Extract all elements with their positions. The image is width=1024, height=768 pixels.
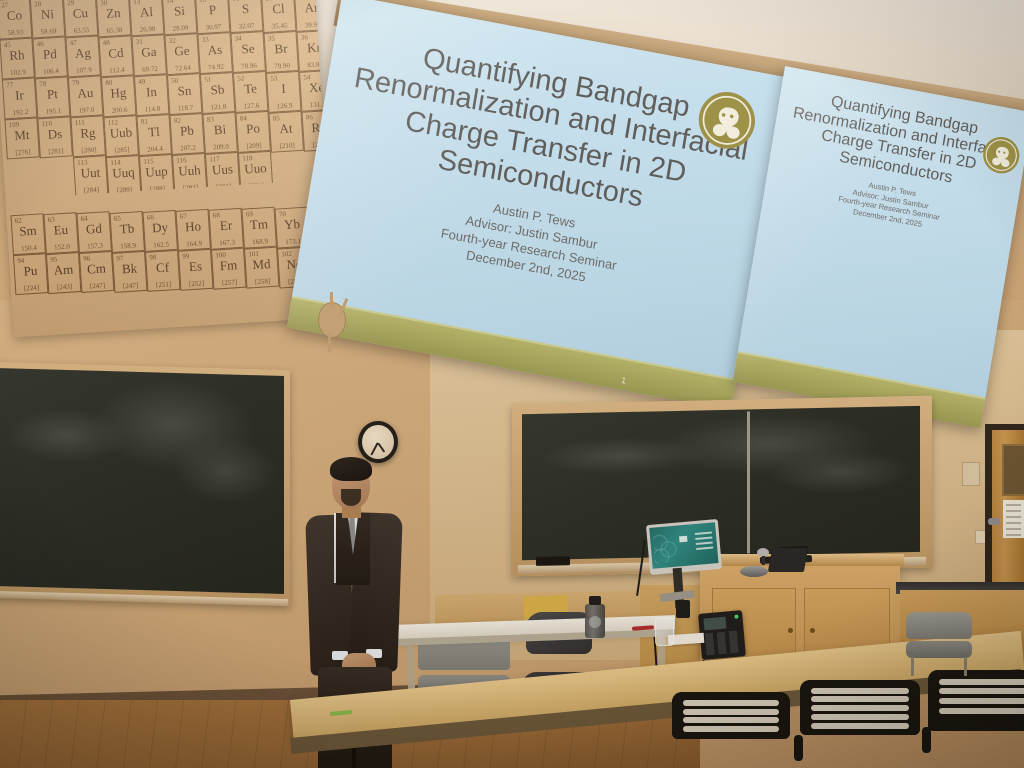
phone-keypad[interactable] xyxy=(705,631,741,656)
element-symbol: Cu xyxy=(64,5,96,23)
clock-face xyxy=(362,425,394,459)
periodic-element-cell: 63Eu152.0 xyxy=(43,212,78,254)
podium-monitor[interactable] xyxy=(646,519,722,575)
element-symbol: Cl xyxy=(263,0,295,18)
element-symbol: Eu xyxy=(45,221,77,239)
element-symbol: Mt xyxy=(6,126,38,144)
microphone[interactable] xyxy=(757,548,769,564)
chalkboard-right-surface xyxy=(522,406,920,560)
csu-ram-logo-icon-2 xyxy=(980,133,1023,177)
periodic-element-cell: 51Sb121.8 xyxy=(200,72,235,114)
element-mass: 127.6 xyxy=(236,101,267,111)
element-symbol: Pu xyxy=(15,262,47,280)
periodic-element-cell: 67Ho164.9 xyxy=(175,209,210,251)
chair-slat xyxy=(939,679,1024,685)
element-symbol: Tb xyxy=(111,220,143,238)
element-symbol: Ho xyxy=(177,218,209,236)
element-symbol: S xyxy=(230,1,262,19)
element-mass: 200.6 xyxy=(104,105,135,115)
element-symbol: Uuo xyxy=(240,160,272,178)
element-symbol: Dy xyxy=(144,219,176,237)
periodic-element-cell: 84Po[209] xyxy=(235,111,270,153)
eraser-left[interactable] xyxy=(536,556,570,566)
periodic-element-cell: 27Co58.93 xyxy=(0,0,32,40)
phone-led-icon xyxy=(734,615,738,619)
element-mass: 207.2 xyxy=(172,143,203,153)
beard xyxy=(341,489,361,506)
element-mass: [258] xyxy=(247,277,278,287)
element-mass: 58.69 xyxy=(33,27,64,37)
element-mass: 197.0 xyxy=(71,106,102,116)
element-mass: [243] xyxy=(49,282,80,292)
element-symbol: Cf xyxy=(147,259,179,277)
periodic-element-cell: 99Es[252] xyxy=(178,249,213,291)
periodic-element-cell: 28Ni58.69 xyxy=(30,0,65,39)
element-symbol: Rg xyxy=(72,125,104,143)
periodic-element-cell: 85At[210] xyxy=(268,110,303,152)
chalk-smudges xyxy=(0,368,284,594)
periodic-element-cell: 50Sn118.7 xyxy=(167,73,202,115)
periodic-element-cell: 68Er167.3 xyxy=(208,208,243,250)
element-mass: 195.1 xyxy=(38,107,69,117)
chair-back xyxy=(928,670,1024,731)
clock-hour-hand xyxy=(377,443,385,453)
chalkboard-left xyxy=(0,362,290,606)
chair-slat xyxy=(811,688,909,694)
periodic-element-cell: 33As74.92 xyxy=(197,32,232,74)
chalkboard-left-surface xyxy=(0,368,284,594)
element-symbol: Ag xyxy=(67,45,99,63)
periodic-element-cell: 46Pd106.4 xyxy=(32,37,67,79)
element-mass: 158.9 xyxy=(112,241,143,251)
chair-slat xyxy=(683,726,780,732)
periodic-element-cell: 48Cd112.4 xyxy=(98,35,133,77)
phone-display xyxy=(703,617,726,631)
microphone-stem xyxy=(762,556,765,565)
element-mass: 114.8 xyxy=(137,104,168,114)
periodic-table-poster: 8B8B10111B122B3A4A5A27Co58.9328Ni58.6929… xyxy=(0,0,335,337)
element-symbol: Uuq xyxy=(108,164,140,182)
podium-knob-left[interactable] xyxy=(788,628,793,633)
chair-row-1[interactable] xyxy=(672,692,790,768)
door-window xyxy=(1002,444,1024,496)
chair-slat xyxy=(811,723,909,729)
periodic-element-cell: 14Si28.09 xyxy=(162,0,197,35)
periodic-element-cell: 35Br79.90 xyxy=(263,31,298,73)
periodic-element-cell: 32Ge72.64 xyxy=(164,33,199,75)
chair-row-3[interactable] xyxy=(928,670,1024,768)
periodic-element-cell: 81Tl204.4 xyxy=(136,114,171,156)
periodic-element-cell: 100Fm[257] xyxy=(211,248,246,290)
element-symbol: Uub xyxy=(105,124,137,142)
chair-back xyxy=(906,612,972,639)
periodic-element-cell: 96Cm[247] xyxy=(79,251,114,293)
plastic-cup[interactable] xyxy=(655,618,674,646)
element-mass: 107.9 xyxy=(68,66,99,76)
periodic-element-cell: 65Tb158.9 xyxy=(109,211,144,253)
periodic-element-cell: 79Au197.0 xyxy=(68,76,103,118)
chair-slat xyxy=(811,705,909,711)
element-mass: 26.98 xyxy=(132,24,163,34)
chair-armrest-left xyxy=(794,735,803,761)
bottle-logo-icon xyxy=(589,616,601,628)
monitor-text-lines xyxy=(695,532,714,553)
periodic-element-cell: 110Ds[281] xyxy=(37,117,72,159)
element-symbol: Fm xyxy=(213,257,245,275)
chair-row-2[interactable] xyxy=(800,680,920,768)
periodic-element-cell: 78Pt195.1 xyxy=(35,77,70,119)
periodic-element-cell: 47Ag107.9 xyxy=(65,36,100,78)
element-symbol: Es xyxy=(180,258,212,276)
desk-phone[interactable] xyxy=(698,610,746,660)
element-symbol: At xyxy=(270,119,302,137)
element-mass: 102.9 xyxy=(2,68,33,78)
element-mass: 63.55 xyxy=(66,26,97,36)
element-symbol: Au xyxy=(69,85,101,103)
monitor-screen[interactable] xyxy=(649,522,718,569)
element-mass: 74.92 xyxy=(200,62,231,72)
element-symbol: Tl xyxy=(138,123,170,141)
element-symbol: P xyxy=(196,1,228,19)
element-symbol: Al xyxy=(130,3,162,21)
element-mass: [210] xyxy=(271,140,302,150)
element-mass: 79.90 xyxy=(266,61,297,71)
element-symbol: Ir xyxy=(3,87,35,105)
chair-slat xyxy=(939,698,1024,704)
element-symbol: Cd xyxy=(100,44,132,62)
element-mass: 192.2 xyxy=(5,107,36,117)
bracket-arm-bottom xyxy=(328,334,331,352)
periodic-element-cell: 34Se78.96 xyxy=(230,31,265,73)
periodic-element-cell: 15P30.97 xyxy=(195,0,230,34)
periodic-element-cell: 83Bi209.0 xyxy=(202,112,237,154)
element-symbol: Co xyxy=(0,7,30,25)
periodic-element-cell: 16S32.07 xyxy=(228,0,263,34)
periodic-element-cell: 113Uut[284] xyxy=(73,156,108,198)
chair-slat xyxy=(683,709,780,715)
chair-back-right[interactable] xyxy=(906,612,972,676)
element-mass: 78.96 xyxy=(233,61,264,71)
element-mass: [209] xyxy=(238,141,269,151)
chair-back xyxy=(800,680,920,735)
element-symbol: Pb xyxy=(171,122,203,140)
element-mass: 106.4 xyxy=(35,67,66,77)
element-symbol: Gd xyxy=(78,221,110,239)
periodic-element-cell: 98Cf[251] xyxy=(145,250,180,292)
element-mass: 209.0 xyxy=(205,142,236,152)
element-symbol: Md xyxy=(246,256,278,274)
bracket-arm-top xyxy=(330,292,333,308)
element-symbol: Tm xyxy=(243,216,275,234)
chair-slat xyxy=(811,714,909,720)
chair-slat xyxy=(683,717,780,723)
element-symbol: Br xyxy=(265,40,297,58)
periodic-element-cell: 94Pu[224] xyxy=(13,253,48,295)
element-symbol: Si xyxy=(163,2,195,20)
element-mass: 164.9 xyxy=(178,239,209,249)
chalkboard-divider xyxy=(747,411,750,553)
chair-slat xyxy=(939,688,1024,694)
door-sign xyxy=(1003,500,1024,538)
element-symbol: Uut xyxy=(75,165,107,183)
chalk-smudges-right xyxy=(522,406,920,560)
chair-back xyxy=(672,692,790,739)
element-mass: 121.8 xyxy=(203,102,234,112)
projection-screen-secondary[interactable]: Quantifying Bandgap Renormalization and … xyxy=(733,66,1024,428)
podium-knob-right[interactable] xyxy=(810,628,815,633)
wall-outlet-box xyxy=(962,462,980,486)
periodic-element-cell: 101Md[258] xyxy=(244,247,279,289)
element-symbol: Se xyxy=(232,40,264,58)
chalkboard-right xyxy=(512,396,932,577)
element-symbol: As xyxy=(199,41,231,59)
element-symbol: Pd xyxy=(34,46,66,64)
element-mass: [285] xyxy=(106,145,137,155)
element-symbol: Sn xyxy=(169,82,201,100)
csu-ram-logo-icon xyxy=(693,86,760,155)
chair-slat xyxy=(939,708,1024,714)
element-mass: 167.3 xyxy=(211,238,242,248)
element-mass: 168.9 xyxy=(244,237,275,247)
periodic-element-cell: 45Rh102.9 xyxy=(0,38,35,80)
periodic-element-cell: 66Dy162.5 xyxy=(142,210,177,252)
element-symbol: Bi xyxy=(204,121,236,139)
element-symbol: Te xyxy=(235,80,267,98)
element-mass: 112.4 xyxy=(101,65,132,75)
element-symbol: Sb xyxy=(202,81,234,99)
bottle-cap xyxy=(589,596,601,605)
element-mass: [247] xyxy=(115,281,146,291)
element-mass: 204.4 xyxy=(139,144,170,154)
periodic-element-cell: 29Cu63.55 xyxy=(63,0,98,38)
element-mass: 65.38 xyxy=(99,25,130,35)
chair-armrest-left xyxy=(922,727,931,753)
element-mass: 72.64 xyxy=(167,63,198,73)
hair xyxy=(330,457,372,481)
headset[interactable] xyxy=(740,566,768,577)
periodic-element-cell: 64Gd157.3 xyxy=(76,211,111,253)
element-symbol: Ga xyxy=(133,43,165,61)
element-symbol: Uus xyxy=(207,161,239,179)
periodic-element-cell: 31Ga69.72 xyxy=(131,34,166,76)
element-symbol: Bk xyxy=(114,260,146,278)
element-mass: [252] xyxy=(181,279,212,289)
element-symbol: Am xyxy=(48,261,80,279)
element-symbol: Hg xyxy=(102,84,134,102)
monitor-logo-icon xyxy=(679,536,687,542)
element-mass: 30.97 xyxy=(198,22,229,32)
element-symbol: Uuh xyxy=(174,162,206,180)
element-mass: [280] xyxy=(73,146,104,156)
periodic-element-cell: 82Pb207.2 xyxy=(169,113,204,155)
classroom-photo-scene: 8B8B10111B122B3A4A5A27Co58.9328Ni58.6929… xyxy=(0,0,1024,768)
element-symbol: Ni xyxy=(31,6,63,24)
element-mass: 28.09 xyxy=(165,23,196,33)
periodic-element-cell: 80Hg200.6 xyxy=(101,75,136,117)
chair-slat xyxy=(811,696,909,702)
element-mass: [281] xyxy=(40,147,71,157)
element-mass: 126.9 xyxy=(269,100,300,110)
element-mass: 162.5 xyxy=(145,240,176,250)
element-mass: 58.93 xyxy=(0,28,31,38)
laptop-lid[interactable] xyxy=(768,548,808,572)
element-mass: [251] xyxy=(148,280,179,290)
chair-seat xyxy=(906,641,972,658)
periodic-element-cell: 53I126.9 xyxy=(266,70,301,112)
periodic-element-cell: 111Rg[280] xyxy=(70,116,105,158)
water-bottle[interactable] xyxy=(585,596,605,638)
element-mass: [224] xyxy=(16,283,47,293)
periodic-element-cell: 17Cl35.45 xyxy=(261,0,296,33)
element-mass: 118.7 xyxy=(170,103,201,113)
element-symbol: Ge xyxy=(166,42,198,60)
chair-legs xyxy=(911,657,966,676)
element-mass: 152.0 xyxy=(46,242,77,252)
element-mass: 35.45 xyxy=(264,21,295,31)
periodic-element-cell: 30Zn65.38 xyxy=(96,0,131,37)
element-symbol: Pt xyxy=(36,86,68,104)
chair-slat xyxy=(683,700,780,706)
door-handle[interactable] xyxy=(988,518,1000,525)
element-symbol: I xyxy=(268,80,300,98)
element-symbol: Cm xyxy=(81,260,113,278)
element-symbol: Ds xyxy=(39,126,71,144)
periodic-element-cell: 77Ir192.2 xyxy=(2,77,37,119)
element-mass: 69.72 xyxy=(134,64,165,74)
element-mass: [247] xyxy=(82,281,113,291)
periodic-element-cell: 112Uub[285] xyxy=(103,115,138,157)
periodic-element-cell: 62Sm150.4 xyxy=(10,213,45,255)
periodic-element-cell: 97Bk[247] xyxy=(112,251,147,293)
element-symbol: Sm xyxy=(12,222,44,240)
element-mass: [257] xyxy=(214,278,245,288)
periodic-element-cell: 109Mt[276] xyxy=(4,117,39,159)
element-symbol: Po xyxy=(237,120,269,138)
periodic-element-cell: 49In114.8 xyxy=(134,74,169,116)
element-mass: 32.07 xyxy=(231,22,262,32)
periodic-element-cell: 52Te127.6 xyxy=(233,71,268,113)
screen-mount-bracket xyxy=(312,292,352,354)
periodic-element-cell: 69Tm168.9 xyxy=(242,207,277,249)
periodic-element-cell: 95Am[243] xyxy=(46,252,81,294)
element-mass: 157.3 xyxy=(79,241,110,251)
document-camera[interactable] xyxy=(676,600,690,618)
element-symbol: Uup xyxy=(141,163,173,181)
element-symbol: In xyxy=(135,83,167,101)
element-symbol: Zn xyxy=(97,4,129,22)
element-mass: [276] xyxy=(7,147,38,157)
periodic-element-cell: 13Al26.98 xyxy=(129,0,164,36)
element-mass: 150.4 xyxy=(13,243,44,253)
element-symbol: Er xyxy=(210,217,242,235)
clock-minute-hand xyxy=(371,442,379,455)
element-symbol: Rh xyxy=(1,47,33,65)
